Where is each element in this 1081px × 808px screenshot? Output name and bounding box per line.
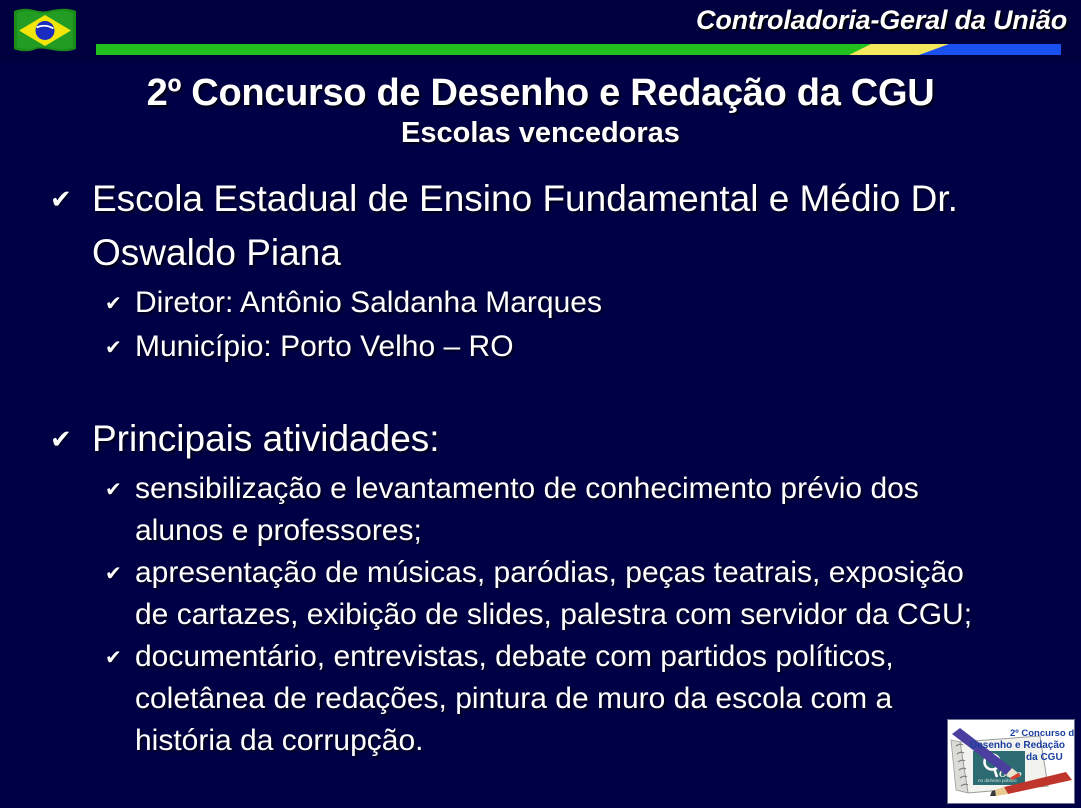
level2-bullet-row: ✔ sensibilização e levantamento de conhe…	[0, 468, 1081, 552]
level2-bullet-text: Diretor: Antônio Saldanha Marques	[135, 282, 990, 324]
level1-bullet-text: Escola Estadual de Ensino Fundamental e …	[92, 172, 972, 280]
slide-subtitle: Escolas vencedoras	[0, 118, 1081, 148]
level2-bullet-row: ✔ Município: Porto Velho – RO	[0, 326, 1081, 370]
level2-list: ✔ sensibilização e levantamento de conhe…	[0, 468, 1081, 762]
concurso-olho-vivo-logo: Olho no dinheiro público 2º Concurso de …	[947, 719, 1075, 804]
level2-bullet-row: ✔ apresentação de músicas, paródias, peç…	[0, 552, 1081, 636]
level2-bullet-text: documentário, entrevistas, debate com pa…	[135, 636, 990, 762]
svg-text:Desenho e Redação: Desenho e Redação	[970, 740, 1065, 751]
title-block: 2º Concurso de Desenho e Redação da CGU …	[0, 74, 1081, 148]
organization-title: Controladoria-Geral da União	[696, 5, 1067, 36]
slide-content: ✔ Escola Estadual de Ensino Fundamental …	[0, 172, 1081, 762]
checkmark-icon: ✔	[105, 552, 135, 596]
level2-list: ✔ Diretor: Antônio Saldanha Marques ✔ Mu…	[0, 282, 1081, 370]
level2-bullet-text: Município: Porto Velho – RO	[135, 326, 990, 368]
level2-bullet-row: ✔ Diretor: Antônio Saldanha Marques	[0, 282, 1081, 326]
content-section: ✔ Escola Estadual de Ensino Fundamental …	[0, 172, 1081, 370]
brazil-flag-icon	[14, 7, 88, 54]
svg-text:da CGU: da CGU	[1026, 752, 1063, 763]
header-tricolor-rule	[96, 44, 1061, 55]
level1-bullet-row: ✔ Principais atividades:	[0, 412, 1081, 466]
checkmark-icon: ✔	[105, 468, 135, 512]
content-section: ✔ Principais atividades: ✔ sensibilizaçã…	[0, 412, 1081, 762]
level2-bullet-row: ✔ documentário, entrevistas, debate com …	[0, 636, 1081, 762]
slide-title: 2º Concurso de Desenho e Redação da CGU	[0, 74, 1081, 114]
checkmark-icon: ✔	[105, 326, 135, 370]
checkmark-icon: ✔	[105, 636, 135, 680]
section-spacer	[0, 370, 1081, 412]
level1-bullet-text: Principais atividades:	[92, 412, 972, 466]
checkmark-icon: ✔	[105, 282, 135, 326]
level2-bullet-text: apresentação de músicas, paródias, peças…	[135, 552, 990, 636]
checkmark-icon: ✔	[50, 172, 92, 226]
level1-bullet-row: ✔ Escola Estadual de Ensino Fundamental …	[0, 172, 1081, 280]
checkmark-icon: ✔	[50, 412, 92, 466]
slide-header: Controladoria-Geral da União	[0, 0, 1081, 62]
svg-text:2º Concurso de: 2º Concurso de	[1010, 728, 1074, 739]
level2-bullet-text: sensibilização e levantamento de conheci…	[135, 468, 990, 552]
